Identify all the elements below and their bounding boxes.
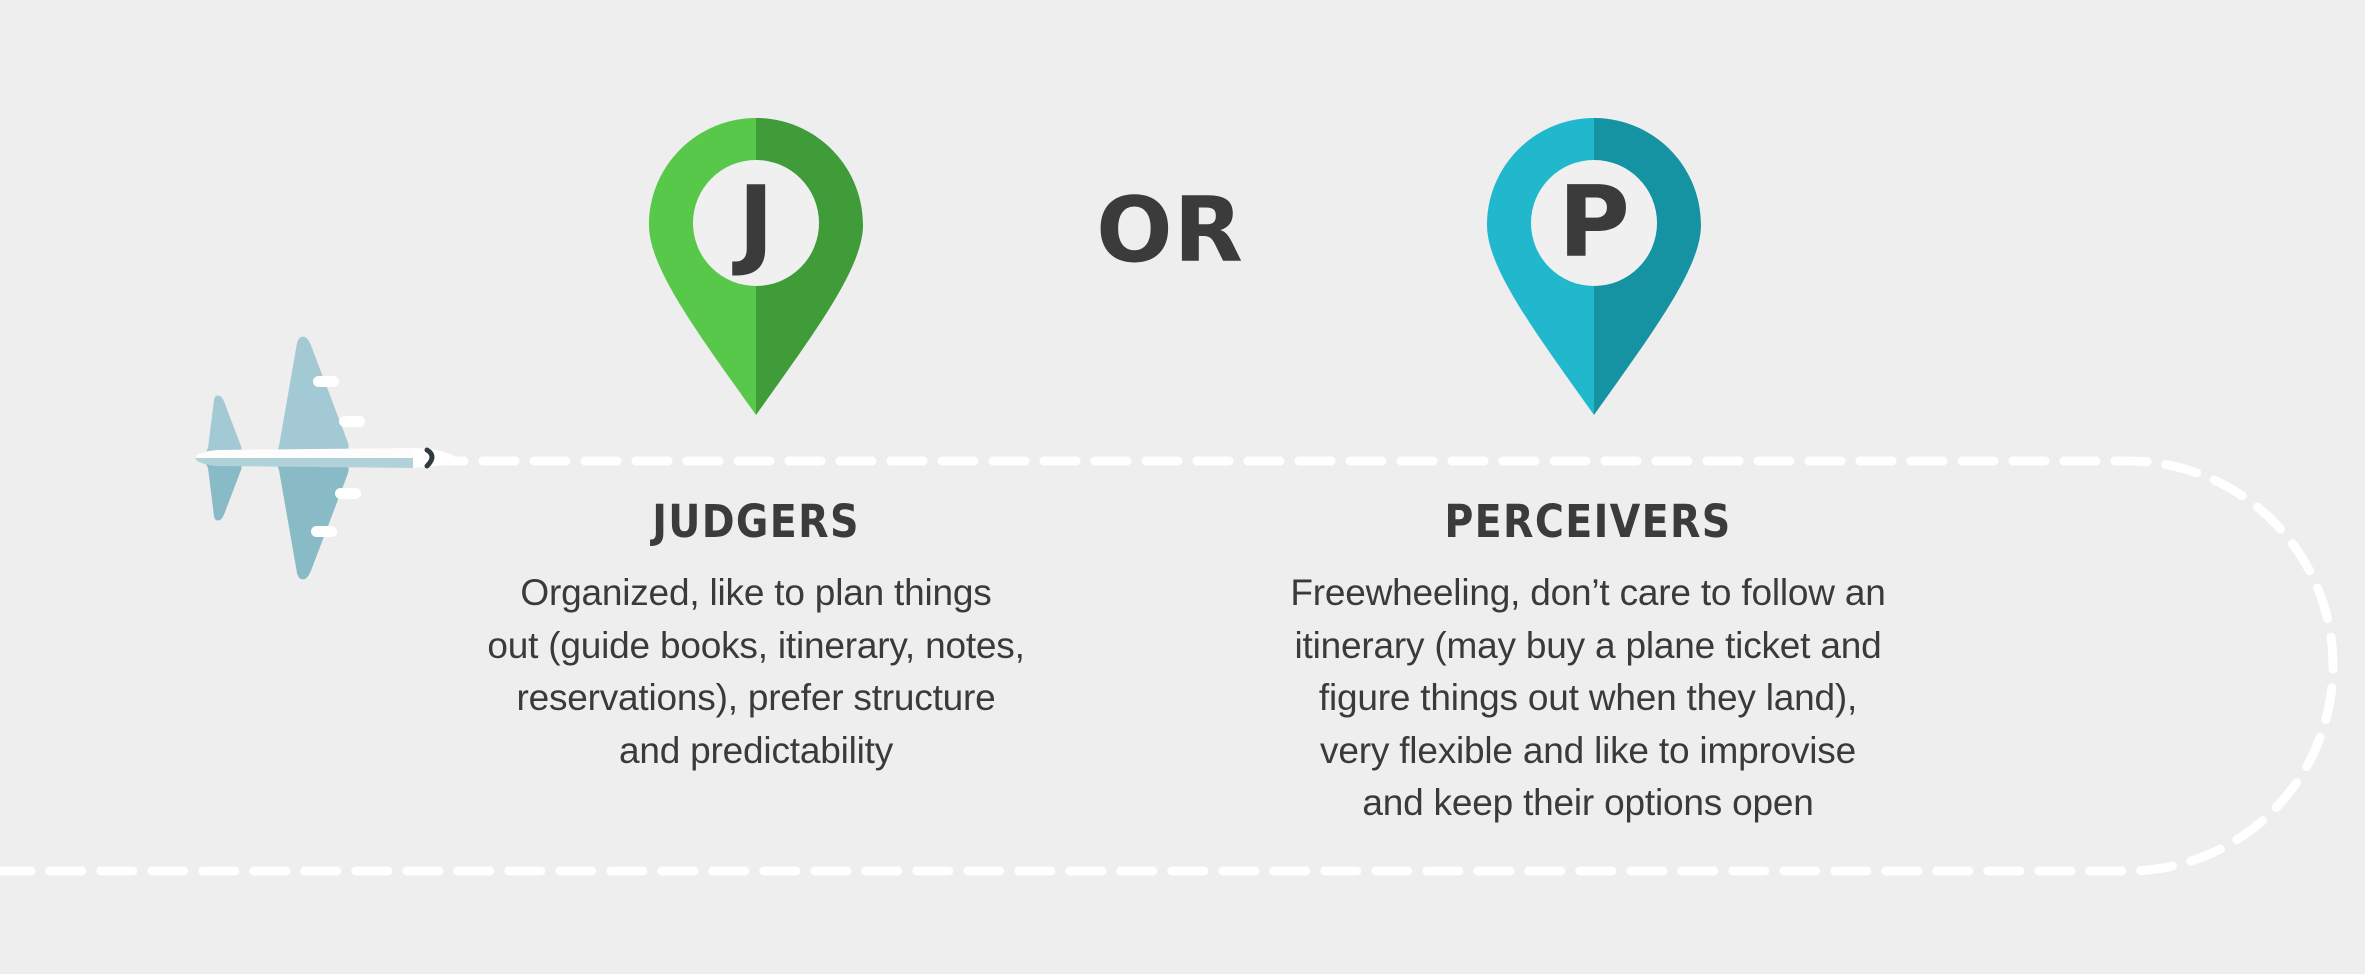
pin-j-letter: J bbox=[732, 166, 774, 280]
perceivers-column: PERCEIVERS Freewheeling, don’t care to f… bbox=[1238, 498, 1938, 830]
airplane-lower-wing bbox=[275, 460, 349, 579]
judgers-heading: JUDGERS bbox=[478, 498, 1034, 545]
airplane-illustration bbox=[175, 328, 465, 586]
or-connector-label: OR bbox=[1040, 186, 1300, 276]
perceivers-heading: PERCEIVERS bbox=[1280, 498, 1896, 545]
airplane-upper-tailplane bbox=[205, 396, 242, 456]
airplane-wing-marking bbox=[335, 488, 361, 499]
judgers-line: reservations), prefer structure bbox=[440, 672, 1072, 725]
perceivers-line: very flexible and like to improvise bbox=[1238, 725, 1938, 778]
pin-p-letter: P bbox=[1558, 166, 1630, 280]
judgers-line: and predictability bbox=[440, 725, 1072, 778]
infographic-canvas: J P OR JUDGERS Organized, like to plan t… bbox=[0, 0, 2365, 974]
judgers-description: Organized, like to plan things out (guid… bbox=[440, 567, 1072, 777]
judgers-line: Organized, like to plan things bbox=[440, 567, 1072, 620]
map-pin-p-icon: P bbox=[1487, 118, 1701, 416]
airplane-nose bbox=[413, 448, 456, 468]
airplane-wing-marking bbox=[339, 416, 365, 427]
airplane-wing-marking bbox=[311, 526, 337, 537]
airplane-wing-marking bbox=[313, 376, 339, 387]
airplane-upper-wing bbox=[275, 337, 349, 456]
perceivers-line: and keep their options open bbox=[1238, 777, 1938, 830]
perceivers-line: figure things out when they land), bbox=[1238, 672, 1938, 725]
perceivers-description: Freewheeling, don’t care to follow an it… bbox=[1238, 567, 1938, 830]
perceivers-line: Freewheeling, don’t care to follow an bbox=[1238, 567, 1938, 620]
judgers-column: JUDGERS Organized, like to plan things o… bbox=[440, 498, 1072, 777]
airplane-lower-tailplane bbox=[205, 461, 242, 521]
judgers-line: out (guide books, itinerary, notes, bbox=[440, 620, 1072, 673]
perceivers-line: itinerary (may buy a plane ticket and bbox=[1238, 620, 1938, 673]
map-pin-j-icon: J bbox=[649, 118, 863, 416]
